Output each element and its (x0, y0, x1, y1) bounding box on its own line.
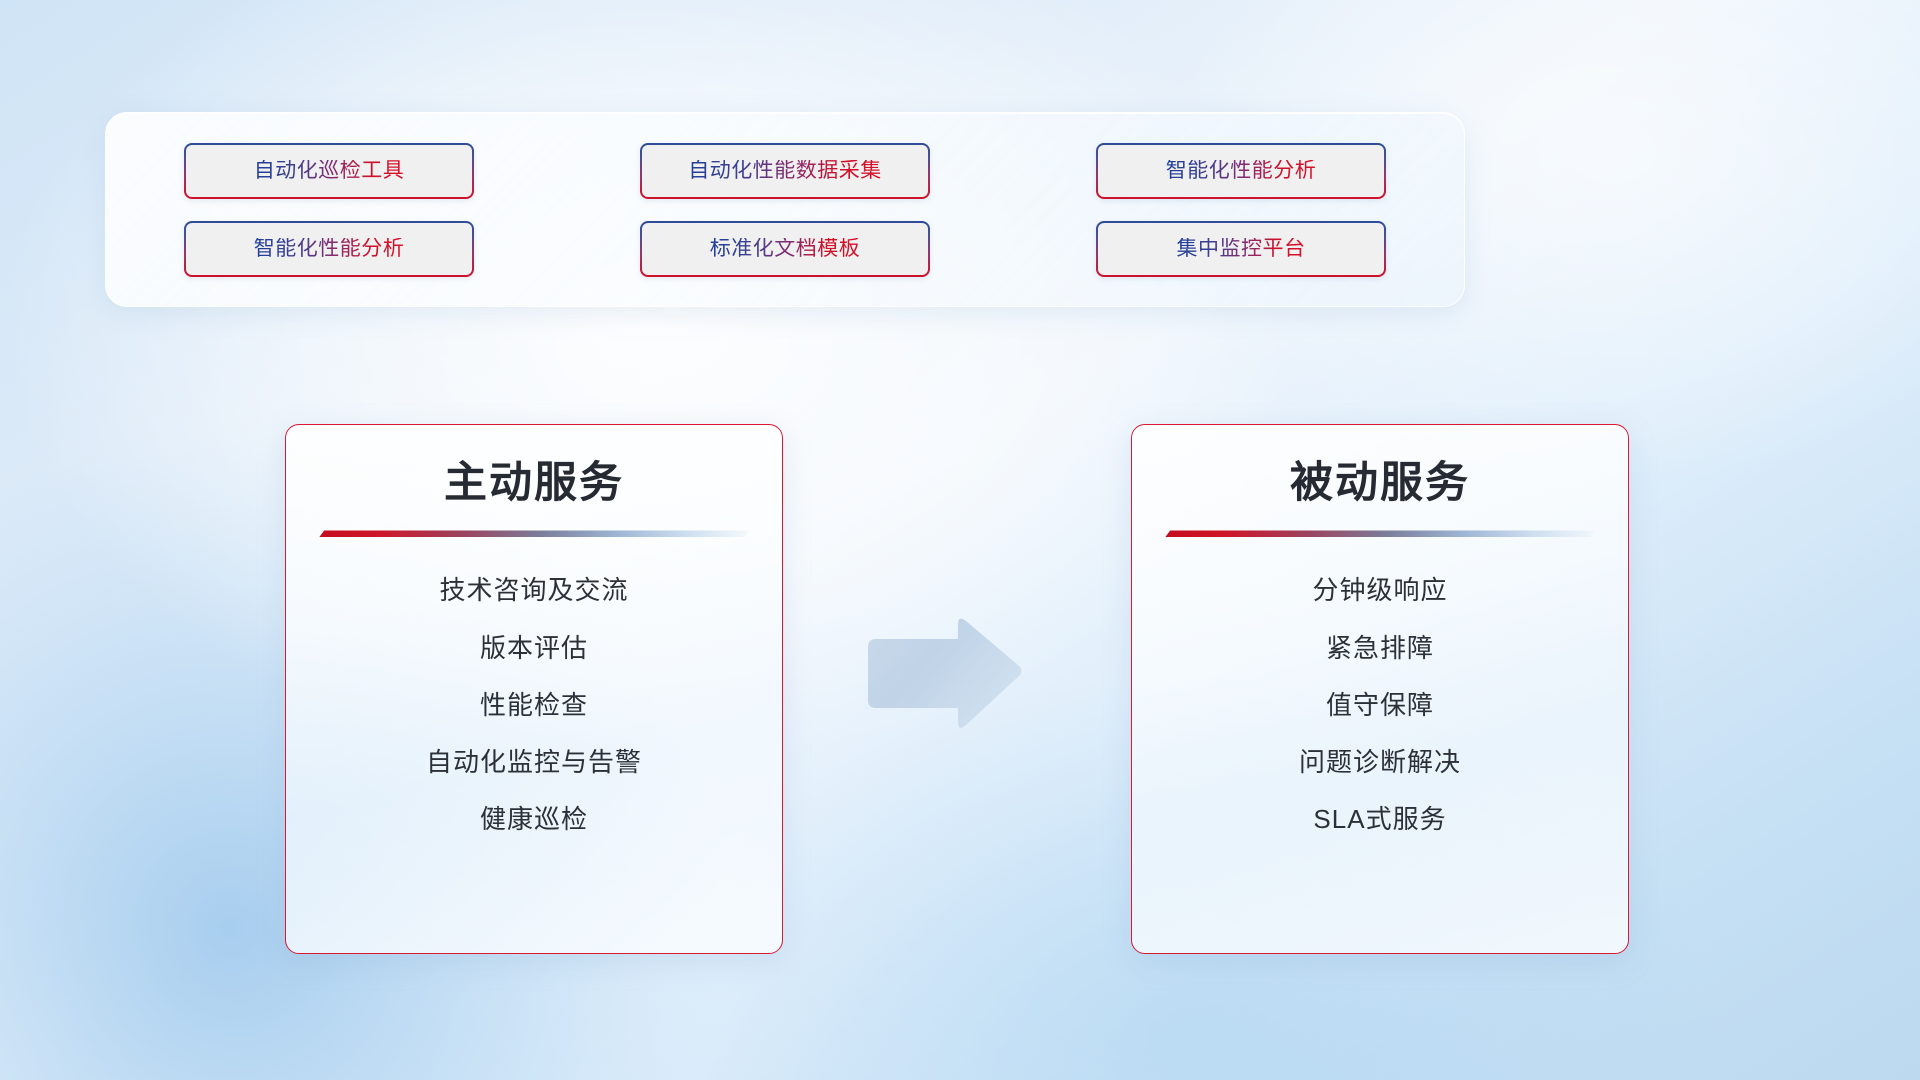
tag-inner: 自动化巡检工具 (186, 145, 472, 197)
capability-row-2: 智能化性能分析 标准化文档模板 集中监控平台 (184, 221, 1386, 277)
list-item: 紧急排障 (1326, 633, 1434, 664)
list-item: 技术咨询及交流 (439, 575, 628, 606)
card-divider (319, 530, 749, 537)
card-title: 主动服务 (444, 459, 624, 508)
capability-tag-label: 智能化性能分析 (254, 238, 405, 259)
capability-tag-intelligent-perf-analysis-2[interactable]: 智能化性能分析 (184, 221, 474, 277)
capability-tag-label: 自动化巡检工具 (254, 160, 405, 181)
capability-tag-standard-doc-template[interactable]: 标准化文档模板 (640, 221, 930, 277)
tag-inner: 集中监控平台 (1098, 223, 1384, 275)
list-item: 自动化监控与告警 (426, 747, 642, 778)
list-item: 问题诊断解决 (1299, 747, 1461, 778)
capability-tag-central-monitoring-platform[interactable]: 集中监控平台 (1096, 221, 1386, 277)
tag-inner: 智能化性能分析 (1098, 145, 1384, 197)
capability-tag-label: 智能化性能分析 (1166, 160, 1317, 181)
tag-inner: 智能化性能分析 (186, 223, 472, 275)
capability-tag-auto-inspection-tool[interactable]: 自动化巡检工具 (184, 143, 474, 199)
tag-inner: 标准化文档模板 (642, 223, 928, 275)
capability-tag-intelligent-perf-analysis[interactable]: 智能化性能分析 (1096, 143, 1386, 199)
capability-row-1: 自动化巡检工具 自动化性能数据采集 智能化性能分析 (184, 143, 1386, 199)
capability-tag-label: 集中监控平台 (1177, 238, 1306, 259)
card-item-list: 分钟级响应 紧急排障 值守保障 问题诊断解决 SLA式服务 (1132, 575, 1628, 835)
card-item-list: 技术咨询及交流 版本评估 性能检查 自动化监控与告警 健康巡检 (286, 575, 782, 835)
capability-panel: 自动化巡检工具 自动化性能数据采集 智能化性能分析 智能化性能分析 (105, 112, 1465, 307)
tag-inner: 自动化性能数据采集 (642, 145, 928, 197)
list-item: 性能检查 (480, 690, 588, 721)
service-card-proactive[interactable]: 主动服务 技术咨询及交流 版本评估 性能检查 自动化监控与告警 健康巡检 (285, 424, 783, 954)
list-item: 健康巡检 (480, 804, 588, 835)
card-title: 被动服务 (1290, 459, 1470, 508)
card-divider (1165, 530, 1595, 537)
service-card-reactive[interactable]: 被动服务 分钟级响应 紧急排障 值守保障 问题诊断解决 SLA式服务 (1131, 424, 1629, 954)
capability-tag-label: 自动化性能数据采集 (688, 160, 882, 181)
list-item: SLA式服务 (1313, 804, 1446, 835)
slide-canvas: 自动化巡检工具 自动化性能数据采集 智能化性能分析 智能化性能分析 (0, 0, 1920, 1080)
list-item: 分钟级响应 (1312, 575, 1447, 606)
list-item: 版本评估 (480, 633, 588, 664)
capability-tag-label: 标准化文档模板 (710, 238, 861, 259)
right-arrow-icon (862, 615, 1024, 733)
capability-tag-auto-perf-data-collection[interactable]: 自动化性能数据采集 (640, 143, 930, 199)
list-item: 值守保障 (1326, 690, 1434, 721)
